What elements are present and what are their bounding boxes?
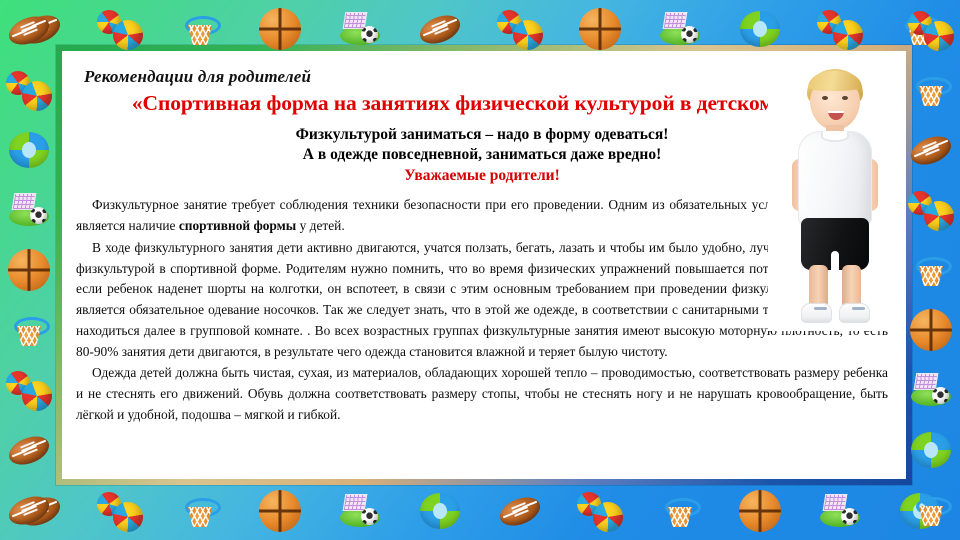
basketball-hoop-icon bbox=[908, 247, 954, 293]
basketball-hoop-icon bbox=[908, 67, 954, 113]
photo-eye-right bbox=[842, 96, 848, 100]
football-icon bbox=[908, 127, 954, 173]
photo-collar bbox=[821, 131, 849, 142]
football-icon bbox=[497, 488, 543, 534]
subtitle-line-1: Физкультурой заниматься – надо в форму о… bbox=[76, 125, 888, 145]
content-panel-inner: Рекомендации для родителей «Спортивная ф… bbox=[62, 51, 906, 479]
football-icon bbox=[6, 427, 52, 473]
photo-lace-right bbox=[852, 307, 865, 310]
swim-ring-icon bbox=[908, 427, 954, 473]
page-title: «Спортивная форма на занятиях физической… bbox=[76, 91, 888, 116]
poster-canvas: Рекомендации для родителей «Спортивная ф… bbox=[0, 0, 960, 540]
basketball-icon bbox=[257, 488, 303, 534]
basketball-hoop-icon bbox=[657, 488, 703, 534]
swim-ring-icon bbox=[897, 488, 943, 534]
basketball-hoop-icon bbox=[177, 488, 223, 534]
basketball-icon bbox=[6, 247, 52, 293]
photo-lace-left bbox=[814, 307, 827, 310]
p1-text-after-bold: у детей. bbox=[296, 218, 344, 233]
decor-border-left bbox=[0, 0, 58, 540]
subtitle-line-2: А в одежде повседневной, заниматься даже… bbox=[76, 145, 888, 165]
p1-bold-term: спортивной формы bbox=[179, 218, 296, 233]
soccer-goal-icon bbox=[6, 187, 52, 233]
beachball-icon bbox=[6, 367, 52, 413]
child-photo bbox=[768, 63, 900, 331]
body-text: Физкультурное занятие требует соблюдения… bbox=[76, 195, 888, 425]
photo-sneaker-left bbox=[801, 303, 832, 323]
beachball-icon bbox=[908, 187, 954, 233]
beachball-icon bbox=[6, 67, 52, 113]
beachball-icon bbox=[908, 7, 954, 53]
football-icon bbox=[6, 7, 52, 53]
basketball-hoop-icon bbox=[908, 487, 954, 533]
subtitle-line-3: Уважаемые родители! bbox=[76, 166, 888, 186]
photo-shorts-gap bbox=[831, 251, 839, 271]
football-icon bbox=[6, 487, 52, 533]
beachball-icon bbox=[97, 488, 143, 534]
soccer-goal-icon bbox=[908, 367, 954, 413]
body-paragraph-1: Физкультурное занятие требует соблюдения… bbox=[76, 195, 888, 237]
photo-eye-left bbox=[822, 96, 828, 100]
photo-sneaker-right bbox=[839, 303, 870, 323]
photo-white-tshirt bbox=[798, 131, 872, 225]
photo-fringe bbox=[808, 71, 862, 91]
soccer-goal-icon bbox=[817, 488, 863, 534]
basketball-icon bbox=[737, 488, 783, 534]
decor-border-bottom bbox=[0, 482, 960, 540]
content-panel: Рекомендации для родителей «Спортивная ф… bbox=[56, 45, 912, 485]
swim-ring-icon bbox=[6, 127, 52, 173]
body-paragraph-2: В ходе физкультурного занятия дети актив… bbox=[76, 238, 888, 363]
basketball-hoop-icon bbox=[6, 307, 52, 353]
basketball-icon bbox=[908, 307, 954, 353]
football-icon bbox=[17, 488, 63, 534]
swim-ring-icon bbox=[417, 488, 463, 534]
beachball-icon bbox=[577, 488, 623, 534]
soccer-goal-icon bbox=[337, 488, 383, 534]
body-paragraph-3: Одежда детей должна быть чистая, сухая, … bbox=[76, 363, 888, 425]
